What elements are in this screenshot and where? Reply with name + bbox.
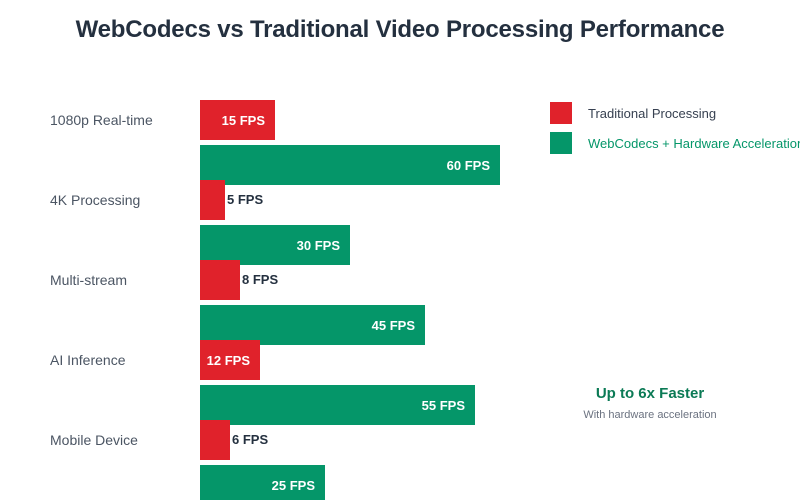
category-label: AI Inference <box>50 353 190 367</box>
chart-canvas: WebCodecs vs Traditional Video Processin… <box>0 0 800 500</box>
annotation-callout: Up to 6x Faster With hardware accelerati… <box>550 385 750 421</box>
bar-traditional[interactable] <box>200 420 230 460</box>
annotation-headline: Up to 6x Faster <box>550 385 750 402</box>
category-label: Multi-stream <box>50 273 190 287</box>
bar-value-label: 55 FPS <box>422 398 465 413</box>
bar-webcodecs[interactable]: 25 FPS <box>200 465 325 500</box>
bar-traditional[interactable] <box>200 180 225 220</box>
bar-value-label: 15 FPS <box>222 113 265 128</box>
bar-value-label: 8 FPS <box>242 260 278 300</box>
bar-webcodecs[interactable]: 45 FPS <box>200 305 425 345</box>
bar-webcodecs[interactable]: 55 FPS <box>200 385 475 425</box>
legend-label: WebCodecs + Hardware Acceleration <box>588 136 800 151</box>
category-label: Mobile Device <box>50 433 190 447</box>
bar-webcodecs[interactable]: 30 FPS <box>200 225 350 265</box>
bar-webcodecs[interactable]: 60 FPS <box>200 145 500 185</box>
bar-value-label: 60 FPS <box>447 158 490 173</box>
bar-value-label: 12 FPS <box>207 353 250 368</box>
legend-item-traditional[interactable]: Traditional Processing <box>550 98 800 128</box>
legend-label: Traditional Processing <box>588 106 716 121</box>
legend-item-webcodecs[interactable]: WebCodecs + Hardware Acceleration <box>550 128 800 158</box>
plot-area: 1080p Real-time15 FPS60 FPS4K Processing… <box>0 0 540 500</box>
bar-traditional[interactable] <box>200 260 240 300</box>
bar-value-label: 45 FPS <box>372 318 415 333</box>
category-label: 4K Processing <box>50 193 190 207</box>
bar-value-label: 6 FPS <box>232 420 268 460</box>
legend-swatch-icon <box>550 102 572 124</box>
bar-value-label: 30 FPS <box>297 238 340 253</box>
bar-value-label: 25 FPS <box>272 478 315 493</box>
annotation-subtext: With hardware acceleration <box>550 409 750 421</box>
category-label: 1080p Real-time <box>50 113 190 127</box>
chart-legend: Traditional ProcessingWebCodecs + Hardwa… <box>550 98 800 158</box>
legend-swatch-icon <box>550 132 572 154</box>
bar-traditional[interactable]: 15 FPS <box>200 100 275 140</box>
bar-traditional[interactable]: 12 FPS <box>200 340 260 380</box>
bar-value-label: 5 FPS <box>227 180 263 220</box>
